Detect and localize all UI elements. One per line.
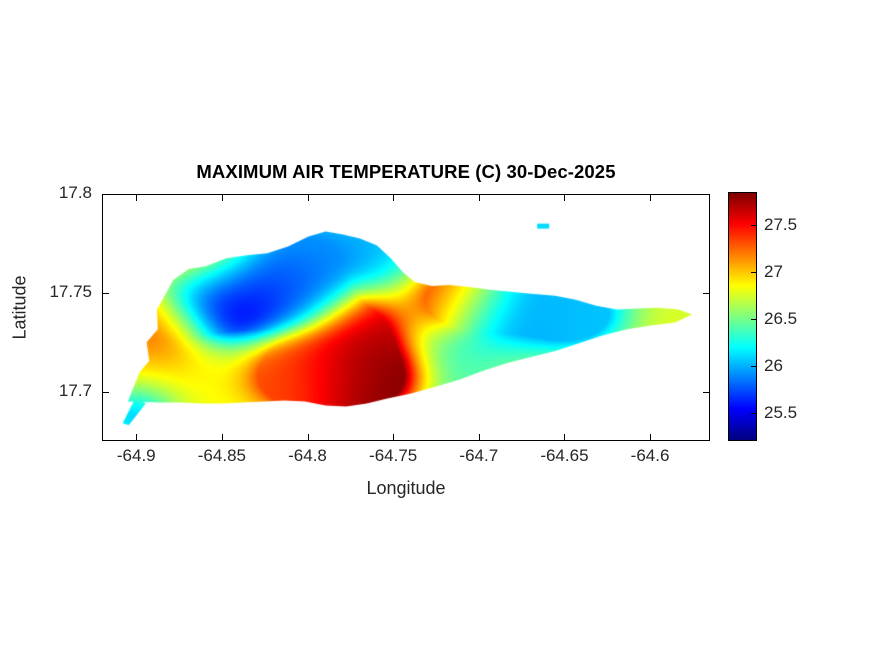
x-tick — [650, 194, 651, 201]
x-tick — [564, 434, 565, 441]
x-tick-label: -64.75 — [369, 446, 417, 466]
x-tick — [136, 434, 137, 441]
x-tick-label: -64.9 — [117, 446, 156, 466]
temperature-heatmap — [103, 195, 710, 441]
x-tick — [393, 194, 394, 201]
colorbar-tick-label: 25.5 — [764, 403, 797, 423]
matlab-figure: MAXIMUM AIR TEMPERATURE (C) 30-Dec-2025 … — [0, 0, 875, 656]
x-tick — [479, 194, 480, 201]
colorbar-tick — [751, 319, 757, 320]
x-tick — [393, 434, 394, 441]
colorbar-tick — [751, 272, 757, 273]
colorbar — [728, 192, 757, 441]
x-tick — [479, 434, 480, 441]
x-tick-label: -64.6 — [631, 446, 670, 466]
x-tick — [308, 194, 309, 201]
x-tick — [222, 194, 223, 201]
y-tick — [102, 392, 109, 393]
colorbar-tick — [751, 366, 757, 367]
y-tick — [703, 392, 710, 393]
colorbar-tick-label: 26 — [764, 356, 783, 376]
page-title: MAXIMUM AIR TEMPERATURE (C) 30-Dec-2025 — [102, 161, 710, 183]
x-tick — [564, 194, 565, 201]
y-tick — [703, 293, 710, 294]
x-tick-label: -64.85 — [198, 446, 246, 466]
y-tick — [102, 293, 109, 294]
x-tick — [222, 434, 223, 441]
x-tick-label: -64.65 — [540, 446, 588, 466]
x-tick — [136, 194, 137, 201]
x-tick-label: -64.8 — [288, 446, 327, 466]
y-tick — [703, 194, 710, 195]
y-tick-label: 17.7 — [59, 381, 92, 401]
colorbar-tick-label: 26.5 — [764, 309, 797, 329]
colorbar-tick-label: 27.5 — [764, 215, 797, 235]
colorbar-tick — [751, 225, 757, 226]
y-axis-label: Latitude — [10, 258, 31, 358]
x-tick — [308, 434, 309, 441]
x-tick — [650, 434, 651, 441]
x-tick-label: -64.7 — [459, 446, 498, 466]
colorbar-gradient — [729, 193, 756, 440]
y-tick-label: 17.8 — [59, 183, 92, 203]
map-axes — [102, 194, 710, 441]
x-axis-label: Longitude — [102, 478, 710, 499]
y-tick-label: 17.75 — [49, 282, 92, 302]
y-tick — [102, 194, 109, 195]
colorbar-tick-label: 27 — [764, 262, 783, 282]
colorbar-tick — [751, 413, 757, 414]
